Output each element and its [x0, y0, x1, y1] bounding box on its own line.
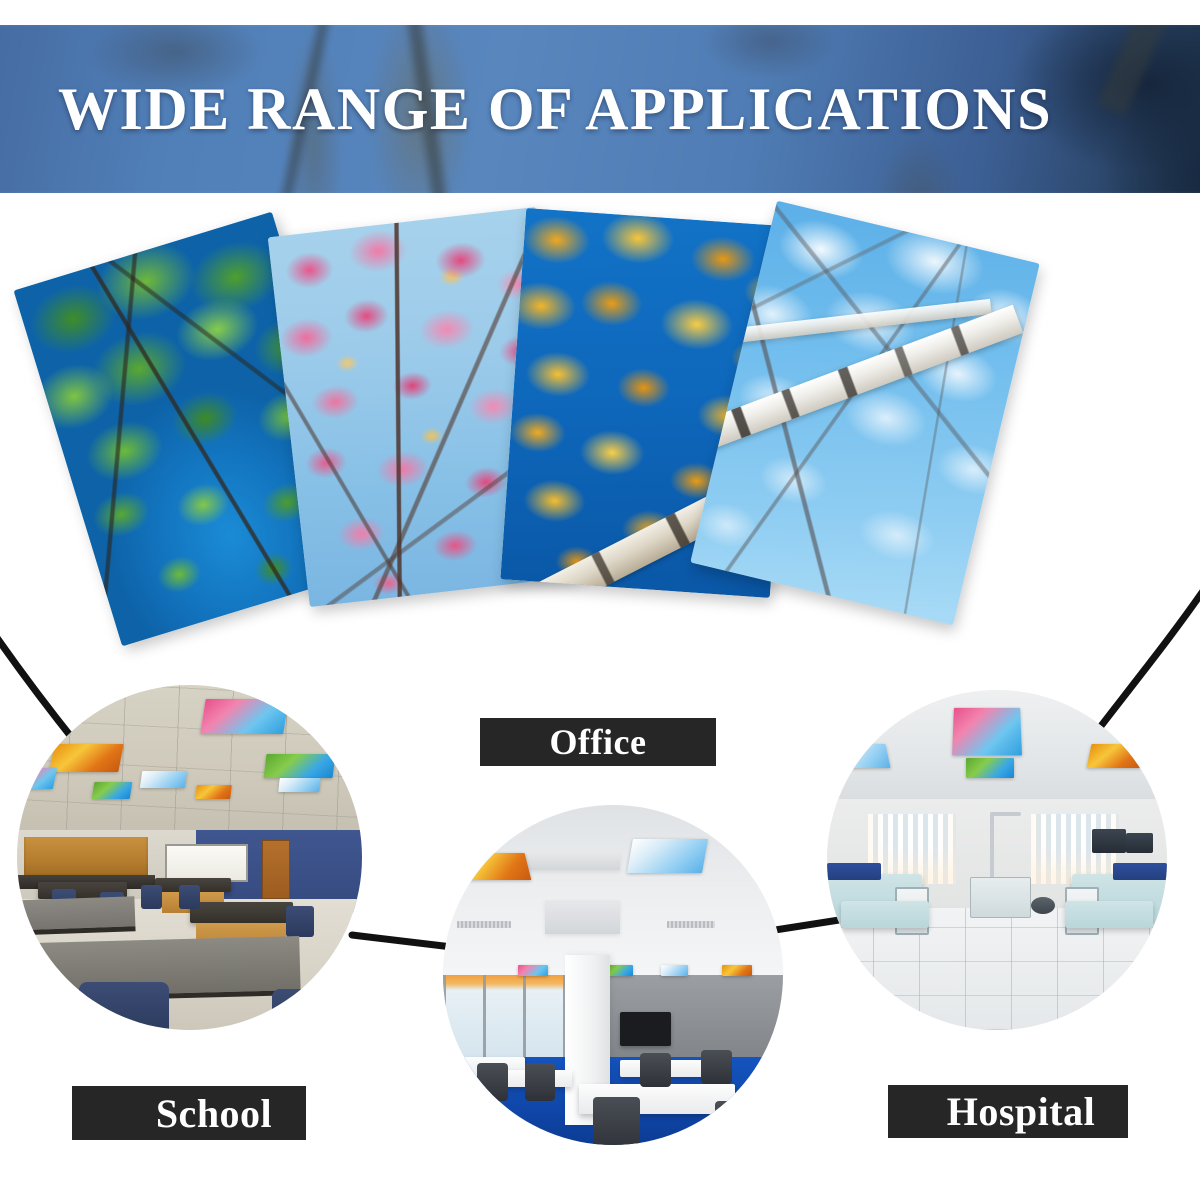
- office-chair: [525, 1063, 556, 1100]
- hospital-bed-headboard: [827, 863, 881, 880]
- classroom-whiteboard: [165, 844, 248, 882]
- office-air-vent: [667, 921, 715, 928]
- ceiling-tile-autumn: [49, 744, 123, 772]
- classroom-foreground-bench: [17, 896, 135, 936]
- label-office: Office: [480, 718, 716, 766]
- hospital-exam-lamp: [990, 812, 994, 880]
- ceiling-tile-winter: [140, 771, 187, 788]
- classroom-chair: [179, 885, 200, 909]
- classroom-foreground-chair: [79, 982, 169, 1030]
- label-school: School: [72, 1086, 306, 1140]
- hospital-vital-monitor: [1126, 833, 1153, 853]
- classroom-desk: [190, 902, 294, 923]
- office-wall-display: [620, 1012, 671, 1046]
- connector-line-school-office: [352, 935, 452, 947]
- application-circle-school[interactable]: [17, 685, 362, 1030]
- label-hospital-text: Hospital: [947, 1088, 1095, 1135]
- office-chair: [593, 1097, 641, 1145]
- ceiling-tile-winter: [278, 778, 321, 792]
- ceiling-tile-autumn: [722, 965, 753, 977]
- application-showcase-page: WIDE RANGE OF APPLICATIONS: [0, 0, 1200, 1200]
- ceiling-tile-summer: [606, 965, 633, 976]
- hospital-bed-headboard: [1113, 863, 1167, 880]
- application-circle-hospital[interactable]: [827, 690, 1167, 1030]
- ceiling-tile-summer: [264, 754, 336, 778]
- classroom-foreground-chair: [272, 989, 334, 1030]
- label-school-text: School: [156, 1090, 272, 1137]
- classroom-cabinets: [24, 837, 148, 878]
- office-ceiling-beam: [545, 900, 620, 934]
- label-office-text: Office: [550, 721, 647, 763]
- ceiling-tile-winter: [661, 965, 688, 976]
- office-ceiling-beam: [525, 853, 620, 870]
- ceiling-tile-summer: [92, 782, 133, 799]
- page-title: WIDE RANGE OF APPLICATIONS: [58, 25, 1194, 193]
- ceiling-tile-autumn: [196, 785, 232, 799]
- classroom-chair: [141, 885, 162, 909]
- hospital-bed: [1065, 901, 1153, 928]
- ceiling-tile-autumn: [460, 853, 531, 880]
- ceiling-tile-winter: [831, 744, 890, 768]
- ceiling-tile-summer: [966, 758, 1014, 778]
- ceiling-tile-spring: [518, 965, 549, 977]
- application-circle-office[interactable]: [443, 805, 783, 1145]
- office-chair: [715, 1101, 756, 1145]
- ceiling-tile-spring: [17, 768, 57, 789]
- classroom-door: [262, 840, 290, 899]
- hospital-exam-lamp-arm: [990, 812, 1021, 816]
- header-banner: WIDE RANGE OF APPLICATIONS: [0, 25, 1200, 193]
- ceiling-tile-spring: [952, 708, 1022, 755]
- hospital-window-blind: [868, 809, 956, 884]
- ceiling-tile-spring: [201, 699, 289, 734]
- classroom-chair: [286, 906, 314, 937]
- ceiling-tile-winter: [627, 839, 708, 873]
- ceiling-tile-autumn: [1086, 744, 1145, 768]
- office-chair: [701, 1050, 732, 1084]
- office-air-vent: [457, 921, 511, 928]
- office-chair: [640, 1053, 671, 1087]
- office-chair: [477, 1063, 508, 1100]
- product-panel-fan: [0, 195, 1200, 675]
- hospital-vital-monitor: [1092, 829, 1126, 853]
- hospital-trolley: [970, 877, 1031, 918]
- hospital-bed: [841, 901, 929, 928]
- label-hospital: Hospital: [888, 1085, 1128, 1138]
